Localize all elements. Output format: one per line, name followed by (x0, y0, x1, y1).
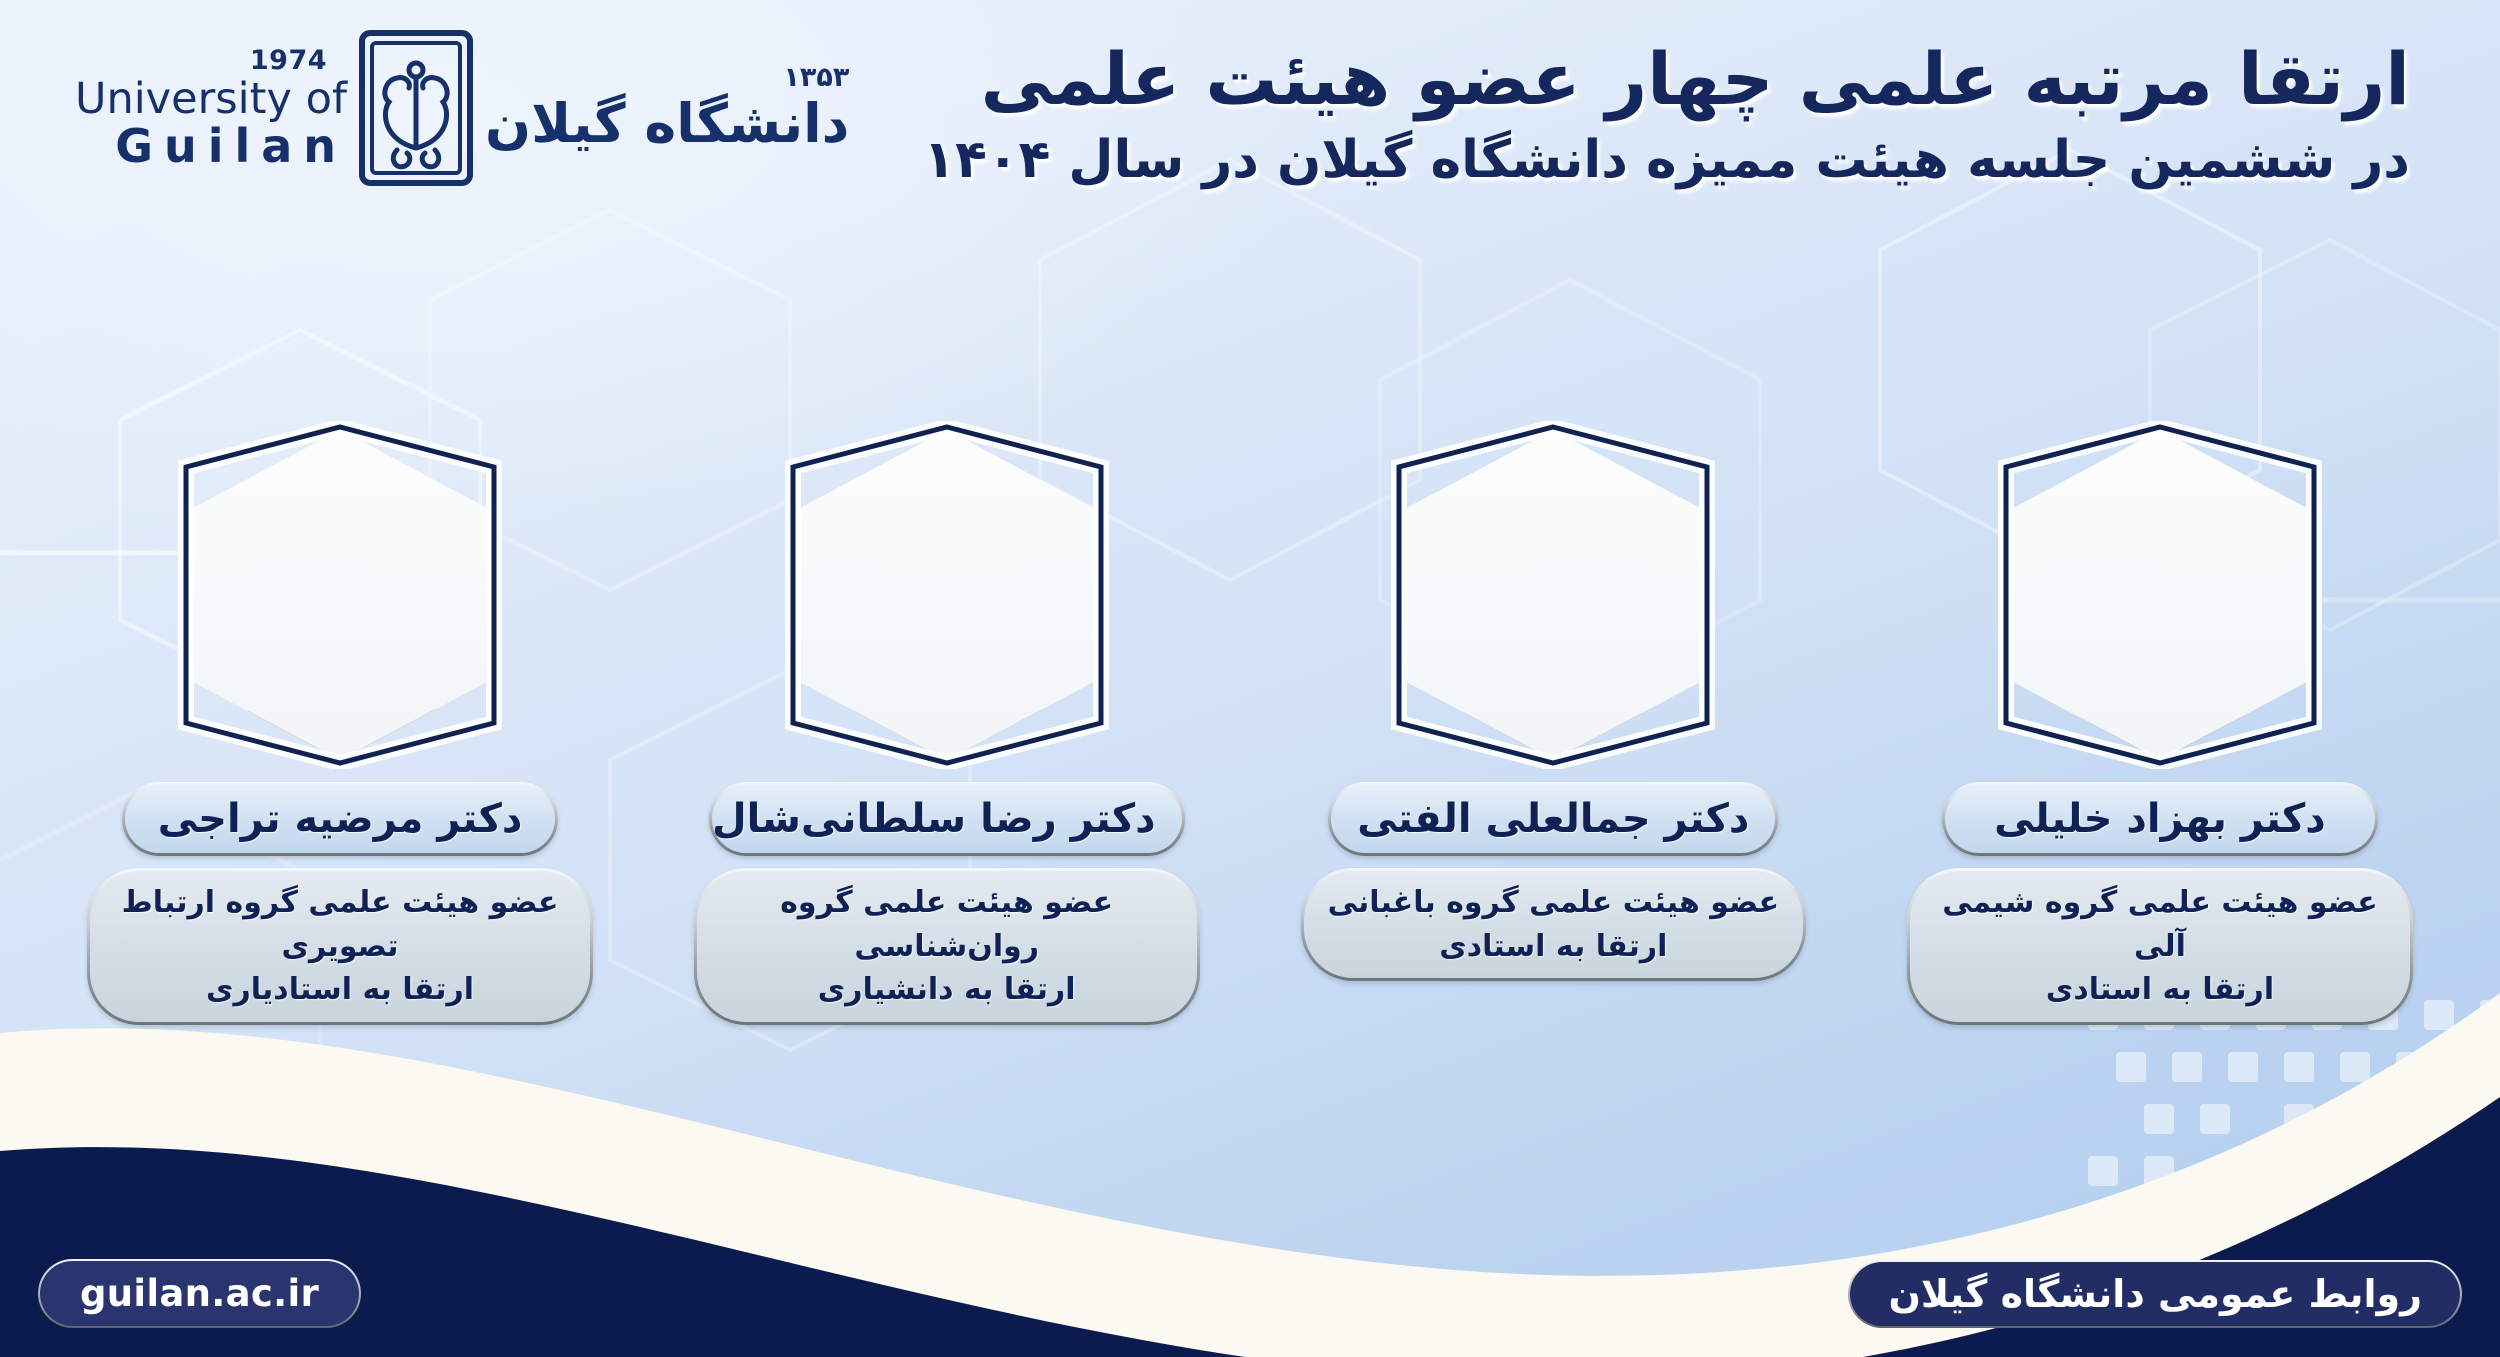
person-name-pill: دکتر رضا سلطانی‌شال (709, 782, 1185, 856)
hex-photo-frame (2005, 430, 2315, 760)
portrait-photo (792, 430, 1102, 760)
website-url: guilan.ac.ir (80, 1272, 319, 1315)
decorative-square-grid-right (1990, 1000, 2500, 1240)
logo-english-text: 1974 University of Guilan (75, 47, 347, 173)
website-url-button[interactable]: guilan.ac.ir (38, 1259, 361, 1328)
person-name: دکتر رضا سلطانی‌شال (738, 794, 1156, 844)
person-role-line2: ارتقا به استادیاری (114, 968, 566, 1012)
person-name-pill: دکتر جمالعلی الفتی (1328, 782, 1778, 856)
portrait-photo (1398, 430, 1708, 760)
avatar (792, 430, 1102, 760)
person-name-pill: دکتر بهزاد خلیلی (1942, 782, 2378, 856)
person-role-line1: عضو هیئت علمی گروه شیمی آلی (1934, 881, 2386, 968)
person-role-pill: عضو هیئت علمی گروه شیمی آلی ارتقا به است… (1907, 868, 2413, 1025)
person-role-line1: عضو هیئت علمی گروه ارتباط تصویری (114, 881, 566, 968)
logo-year-fa: ۱۳۵۳ (783, 64, 849, 91)
avatar (2005, 430, 2315, 760)
person-name-pill: دکتر مرضیه تراجی (122, 782, 558, 856)
person-role-line2: ارتقا به دانشیاری (721, 968, 1173, 1012)
person-card: دکتر مرضیه تراجی عضو هیئت علمی گروه ارتب… (60, 430, 620, 1025)
person-name: دکتر جمالعلی الفتی (1357, 794, 1749, 844)
hex-photo-frame (792, 430, 1102, 760)
person-role-line1: عضو هیئت علمی گروه باغبانی (1328, 881, 1780, 925)
avatar (185, 430, 495, 760)
university-logo: 1974 University of Guilan ۱۳۵۳ دانشگاه گ… (75, 28, 849, 192)
person-role-pill: عضو هیئت علمی گروه باغبانی ارتقا به استا… (1301, 868, 1807, 981)
person-name: دکتر مرضیه تراجی (151, 794, 529, 844)
avatar (1398, 430, 1708, 760)
person-role-pill: عضو هیئت علمی گروه ارتباط تصویری ارتقا ب… (87, 868, 593, 1025)
hex-photo-frame (185, 430, 495, 760)
people-row: دکتر بهزاد خلیلی عضو هیئت علمی گروه شیمی… (0, 430, 2500, 1025)
poster-canvas: 1974 University of Guilan ۱۳۵۳ دانشگاه گ… (0, 0, 2500, 1357)
logo-university-line1: University of (75, 78, 347, 121)
portrait-photo (2005, 430, 2315, 760)
person-role-pill: عضو هیئت علمی گروه روان‌شناسی ارتقا به د… (694, 868, 1200, 1025)
page-title: ارتقا مرتبه علمی چهار عضو هیئت علمی (923, 38, 2410, 121)
portrait-photo (185, 430, 495, 760)
header-titles: ارتقا مرتبه علمی چهار عضو هیئت علمی در ش… (923, 38, 2410, 191)
person-role-line2: ارتقا به استادی (1328, 925, 1780, 969)
public-relations-badge: روابط عمومی دانشگاه گیلان (1848, 1260, 2462, 1328)
logo-university-name-fa: دانشگاه گیلان (485, 97, 849, 151)
person-name: دکتر بهزاد خلیلی (1971, 794, 2349, 844)
person-card: دکتر بهزاد خلیلی عضو هیئت علمی گروه شیمی… (1880, 430, 2440, 1025)
person-card: دکتر رضا سلطانی‌شال عضو هیئت علمی گروه ر… (667, 430, 1227, 1025)
public-relations-label: روابط عمومی دانشگاه گیلان (1888, 1272, 2422, 1316)
logo-year-en: 1974 (250, 47, 327, 74)
person-card: دکتر جمالعلی الفتی عضو هیئت علمی گروه با… (1273, 430, 1833, 1025)
page-subtitle: در ششمین جلسه هیئت ممیزه دانشگاه گیلان د… (923, 129, 2410, 191)
person-role-line1: عضو هیئت علمی گروه روان‌شناسی (721, 881, 1173, 968)
logo-university-line2: Guilan (115, 123, 347, 169)
hex-photo-frame (1398, 430, 1708, 760)
logo-persian-text: ۱۳۵۳ دانشگاه گیلان (485, 64, 849, 157)
logo-emblem-icon (357, 28, 475, 192)
person-role-line2: ارتقا به استادی (1934, 968, 2386, 1012)
